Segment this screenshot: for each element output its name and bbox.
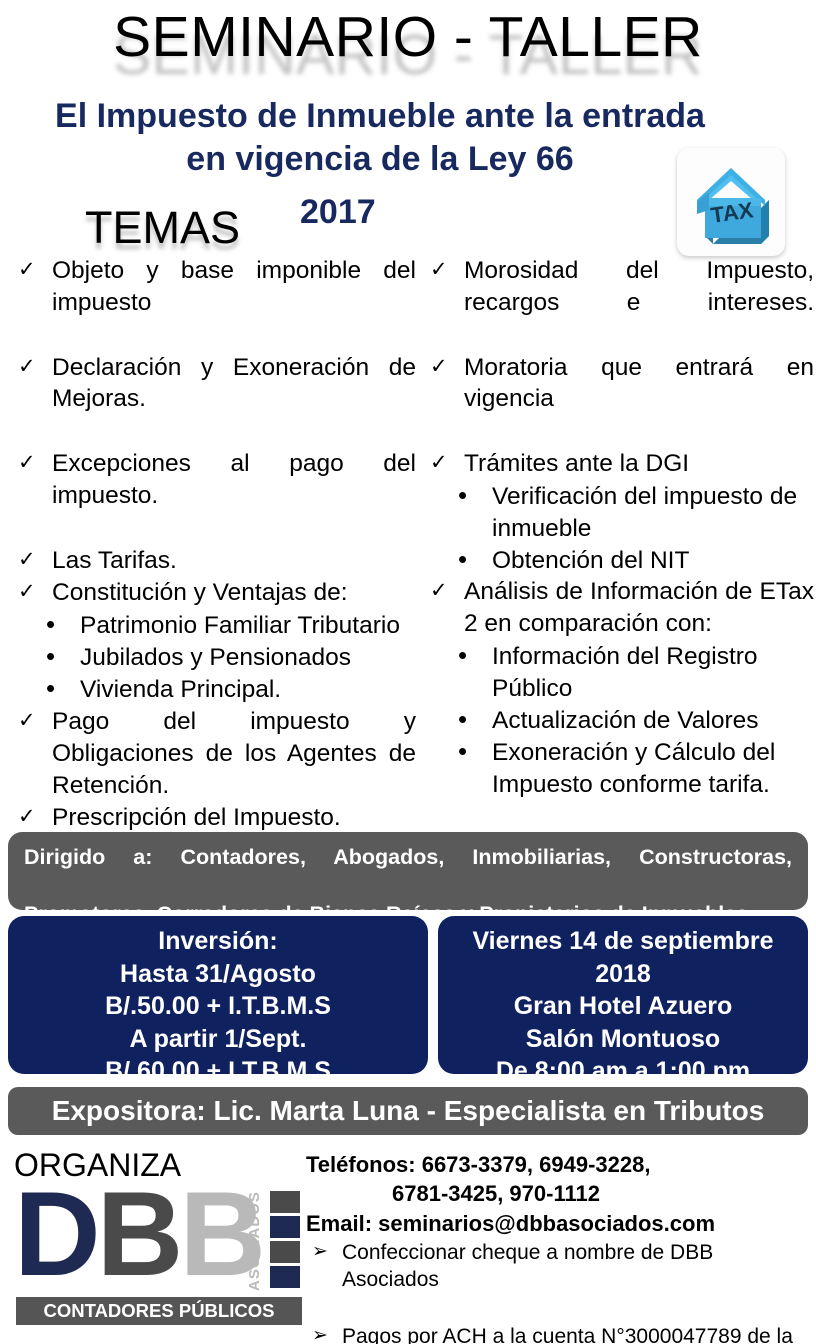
topic-item: ✓ Excepciones al pago del impuesto. [6, 448, 416, 544]
audience-line-1: Dirigido a: Contadores, Abogados, Inmobi… [24, 843, 792, 900]
bullet-icon: • [458, 703, 467, 737]
topic-item: ✓ Pago del impuesto y Obligaciones de lo… [6, 706, 416, 802]
topics-column-right: ✓ Morosidad del Impuesto, recargos e int… [418, 255, 814, 832]
logo-square-column [270, 1191, 300, 1291]
topic-sublist-right-etax: • Información del Registro Público • Act… [418, 641, 814, 832]
logo-vertical-text: ASOCIADOS [246, 1193, 266, 1291]
topic-sublist-left: • Patrimonio Familiar Tributario • Jubil… [6, 610, 416, 706]
topic-item: ✓ Las Tarifas. [6, 545, 416, 577]
logo-square [270, 1216, 300, 1238]
topic-item: ✓ Análisis de Información de ETax 2 en c… [418, 576, 814, 640]
logo-letter-b1: B [97, 1167, 180, 1301]
topic-item: ✓ Trámites ante la DGI [418, 448, 814, 480]
phones-line-1: Teléfonos: 6673-3379, 6949-3228, [306, 1150, 806, 1179]
investment-line: A partir 1/Sept. [8, 1023, 428, 1056]
event-details-box: Viernes 14 de septiembre 2018 Gran Hotel… [438, 916, 808, 1074]
topic-text: Análisis de Información de ETax 2 en com… [464, 578, 814, 637]
logo-letter-d: D [14, 1167, 97, 1301]
bullet-icon: • [46, 640, 55, 674]
logo-square [270, 1241, 300, 1263]
audience-banner: Dirigido a: Contadores, Abogados, Inmobi… [8, 832, 808, 910]
check-icon: ✓ [430, 449, 448, 476]
event-line: Salón Montuoso [438, 1023, 808, 1056]
check-icon: ✓ [430, 256, 448, 283]
investment-line: B/.50.00 + I.T.B.M.S [8, 990, 428, 1023]
event-line: Gran Hotel Azuero [438, 990, 808, 1023]
topic-item: ✓ Moratoria que entrará en vigencia [418, 352, 814, 448]
topic-subtext: Verificación del impuesto de inmueble [492, 483, 797, 542]
check-icon: ✓ [18, 256, 36, 283]
topic-subitem: • Jubilados y Pensionados [6, 642, 416, 674]
speaker-banner: Expositora: Lic. Marta Luna - Especialis… [8, 1087, 808, 1135]
topics-column-left: ✓ Objeto y base imponible del impuesto ✓… [6, 255, 416, 835]
tax-house-icon: TAX [677, 148, 785, 256]
bullet-icon: • [458, 735, 467, 769]
topic-subtext: Obtención del NIT [492, 547, 689, 574]
bullet-icon: • [46, 672, 55, 706]
law-year: 2017 [300, 193, 376, 232]
topic-subitem: • Patrimonio Familiar Tributario [6, 610, 416, 642]
topic-item: ✓ Objeto y base imponible del impuesto [6, 255, 416, 351]
topic-text: Pago del impuesto y Obligaciones de los … [52, 708, 416, 799]
topic-item: ✓ Declaración y Exoneración de Mejoras. [6, 352, 416, 448]
investment-line: Inversión: [8, 925, 428, 958]
topic-subtext: Información del Registro Público [492, 643, 758, 702]
seminar-subtitle: El Impuesto de Inmueble ante la entrada … [40, 95, 720, 181]
topic-subitem: • Obtención del NIT [418, 545, 814, 577]
topic-text: Las Tarifas. [52, 547, 177, 574]
topic-subitem: • Información del Registro Público [418, 641, 814, 705]
phones-line-2: 6781-3425, 970-1112 [306, 1179, 806, 1208]
topic-text: Objeto y base imponible del impuesto [52, 257, 416, 348]
topic-subtext: Exoneración y Cálculo del Impuesto confo… [492, 739, 814, 830]
topic-text: Prescripción del Impuesto. [52, 804, 341, 831]
topic-subtext: Jubilados y Pensionados [80, 644, 351, 671]
arrow-icon: ➢ [312, 1323, 328, 1344]
bullet-icon: • [46, 608, 55, 642]
topic-item: ✓ Prescripción del Impuesto. [6, 802, 416, 834]
topic-item: ✓ Morosidad del Impuesto, recargos e int… [418, 255, 814, 351]
topic-text: Constitución y Ventajas de: [52, 579, 348, 606]
check-icon: ✓ [430, 577, 448, 604]
check-icon: ✓ [18, 707, 36, 734]
bullet-icon: • [458, 479, 467, 513]
event-line: Viernes 14 de septiembre [438, 925, 808, 958]
investment-line: B/.60.00 + I.T.B.M.S [8, 1055, 428, 1088]
event-line: 2018 [438, 958, 808, 991]
topic-text: Morosidad del Impuesto, recargos e inter… [464, 257, 814, 348]
topic-subtext: Actualización de Valores [492, 707, 758, 734]
payment-text: Confeccionar cheque a nombre de DBB Asoc… [342, 1241, 814, 1319]
topic-text: Moratoria que entrará en vigencia [464, 354, 814, 445]
payment-item: ➢ Pagos por ACH a la cuenta N°3000047789… [306, 1323, 814, 1344]
investment-line: Hasta 31/Agosto [8, 958, 428, 991]
contact-info: Teléfonos: 6673-3379, 6949-3228, 6781-34… [306, 1150, 806, 1238]
page-title: SEMINARIO - TALLER [0, 8, 816, 68]
bullet-icon: • [458, 639, 467, 673]
topic-subtext: Patrimonio Familiar Tributario [80, 612, 400, 639]
logo-tagline: CONTADORES PÚBLICOS AUTORIZADOS [16, 1297, 302, 1325]
topic-sublist-right-dgi: • Verificación del impuesto de inmueble … [418, 481, 814, 577]
event-line: De 8:00 am a 1:00 pm [438, 1055, 808, 1088]
logo-square [270, 1191, 300, 1213]
topic-subtext: Vivienda Principal. [80, 676, 281, 703]
poster-root: SEMINARIO - TALLER El Impuesto de Inmueb… [0, 0, 816, 1344]
topic-text: Trámites ante la DGI [464, 450, 689, 477]
arrow-icon: ➢ [312, 1239, 328, 1264]
topic-text: Declaración y Exoneración de Mejoras. [52, 354, 416, 445]
investment-box: Inversión: Hasta 31/Agosto B/.50.00 + I.… [8, 916, 428, 1074]
topics-heading: TEMAS [85, 202, 240, 254]
topic-subitem: • Vivienda Principal. [6, 674, 416, 706]
check-icon: ✓ [18, 546, 36, 573]
check-icon: ✓ [18, 353, 36, 380]
topic-subitem: • Exoneración y Cálculo del Impuesto con… [418, 737, 814, 833]
topic-item: ✓ Constitución y Ventajas de: [6, 577, 416, 609]
payment-item: ➢ Confeccionar cheque a nombre de DBB As… [306, 1239, 814, 1321]
topic-list-left-cont: ✓ Pago del impuesto y Obligaciones de lo… [6, 706, 416, 834]
topic-subitem: • Verificación del impuesto de inmueble [418, 481, 814, 545]
logo-letters: DBB [14, 1185, 262, 1291]
dbb-logo: DBB ASOCIADOS CONTADORES PÚBLICOS AUTORI… [14, 1185, 308, 1330]
check-icon: ✓ [18, 449, 36, 476]
topic-list-right-cont: ✓ Análisis de Información de ETax 2 en c… [418, 576, 814, 640]
topic-text: Excepciones al pago del impuesto. [52, 450, 416, 541]
payment-text: Pagos por ACH a la cuenta N°3000047789 d… [342, 1325, 793, 1344]
topic-subitem: • Actualización de Valores [418, 705, 814, 737]
check-icon: ✓ [18, 803, 36, 830]
check-icon: ✓ [18, 578, 36, 605]
email-line: Email: seminarios@dbbasociados.com [306, 1209, 806, 1238]
bullet-icon: • [458, 543, 467, 577]
check-icon: ✓ [430, 353, 448, 380]
logo-square [270, 1266, 300, 1288]
topic-list-left: ✓ Objeto y base imponible del impuesto ✓… [6, 255, 416, 609]
topic-list-right: ✓ Morosidad del Impuesto, recargos e int… [418, 255, 814, 480]
payment-instructions: ➢ Confeccionar cheque a nombre de DBB As… [306, 1239, 814, 1344]
